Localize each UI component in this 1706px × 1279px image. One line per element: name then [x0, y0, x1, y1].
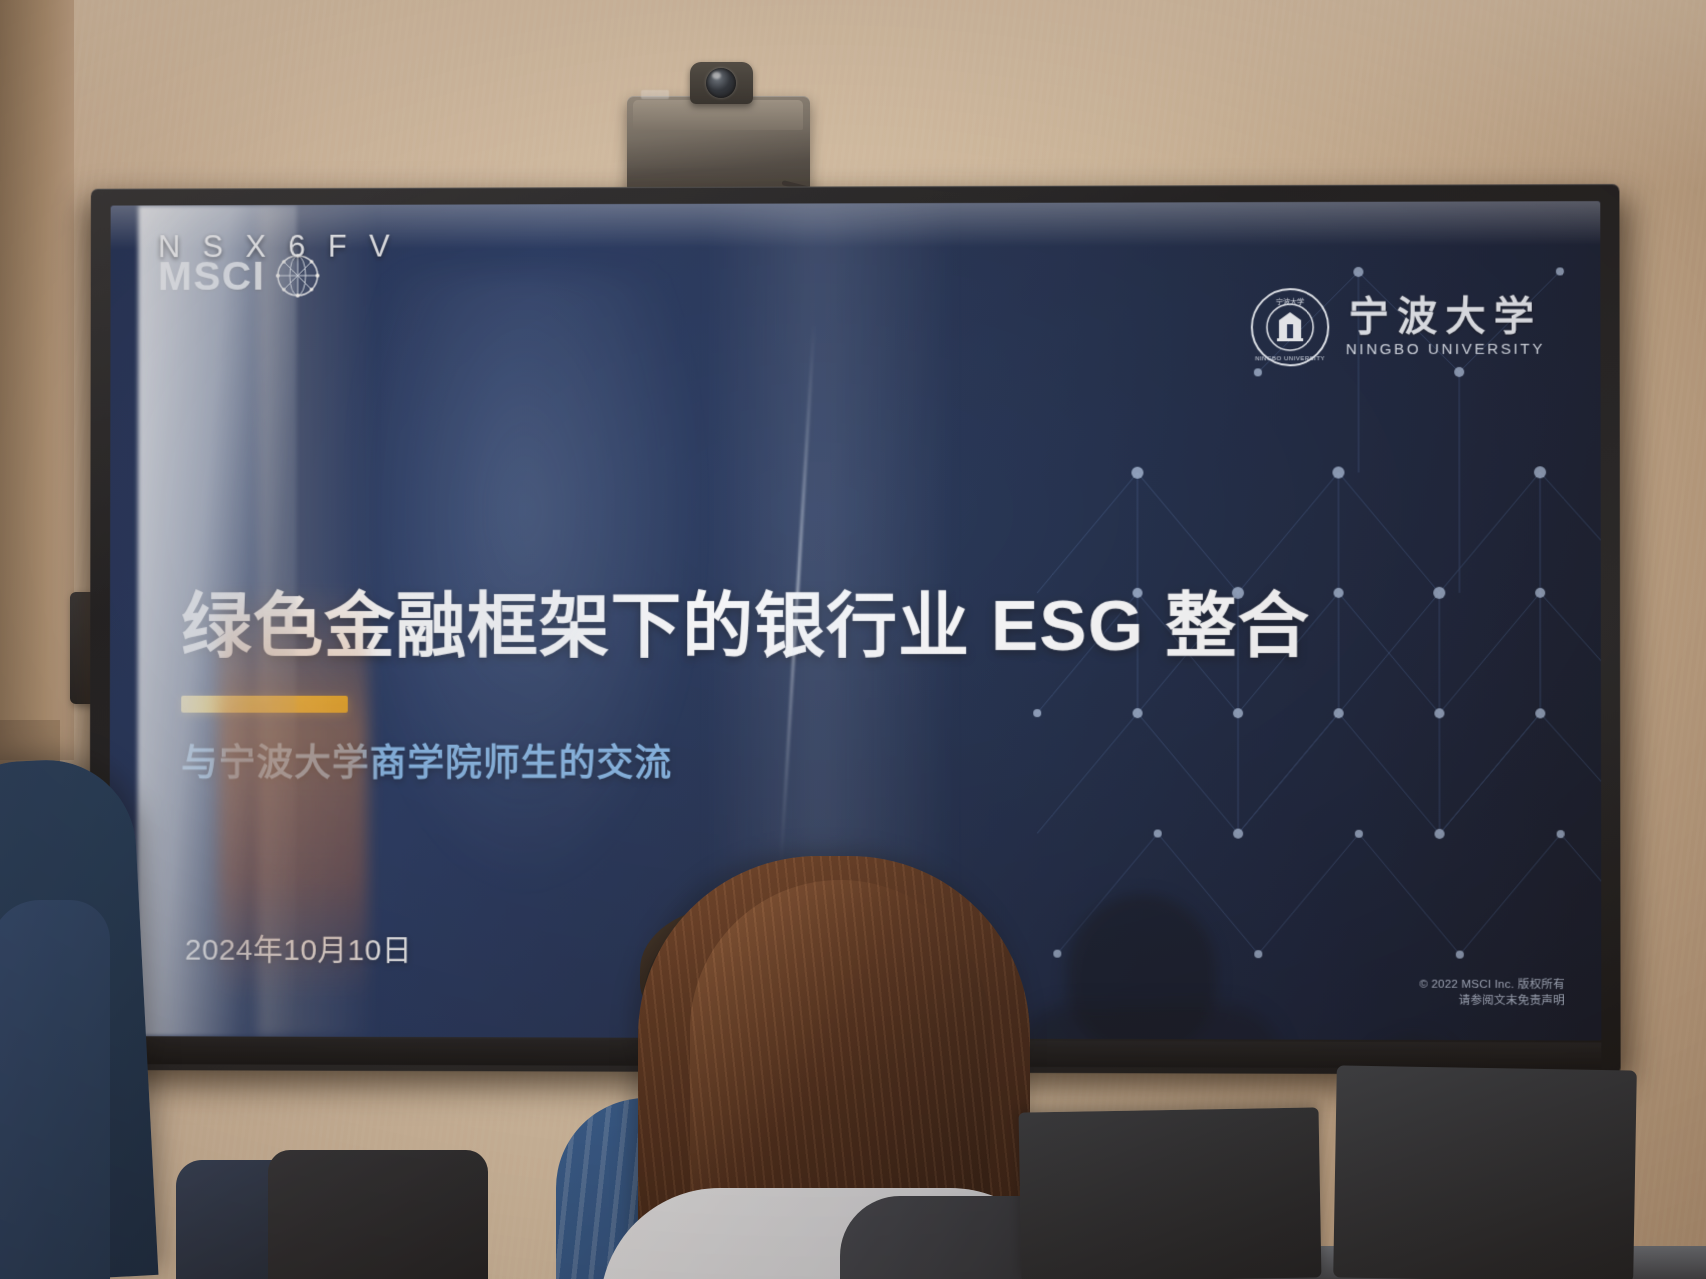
screenshot-root: MSCI [0, 0, 1706, 1279]
image-vignette [0, 0, 1706, 1279]
